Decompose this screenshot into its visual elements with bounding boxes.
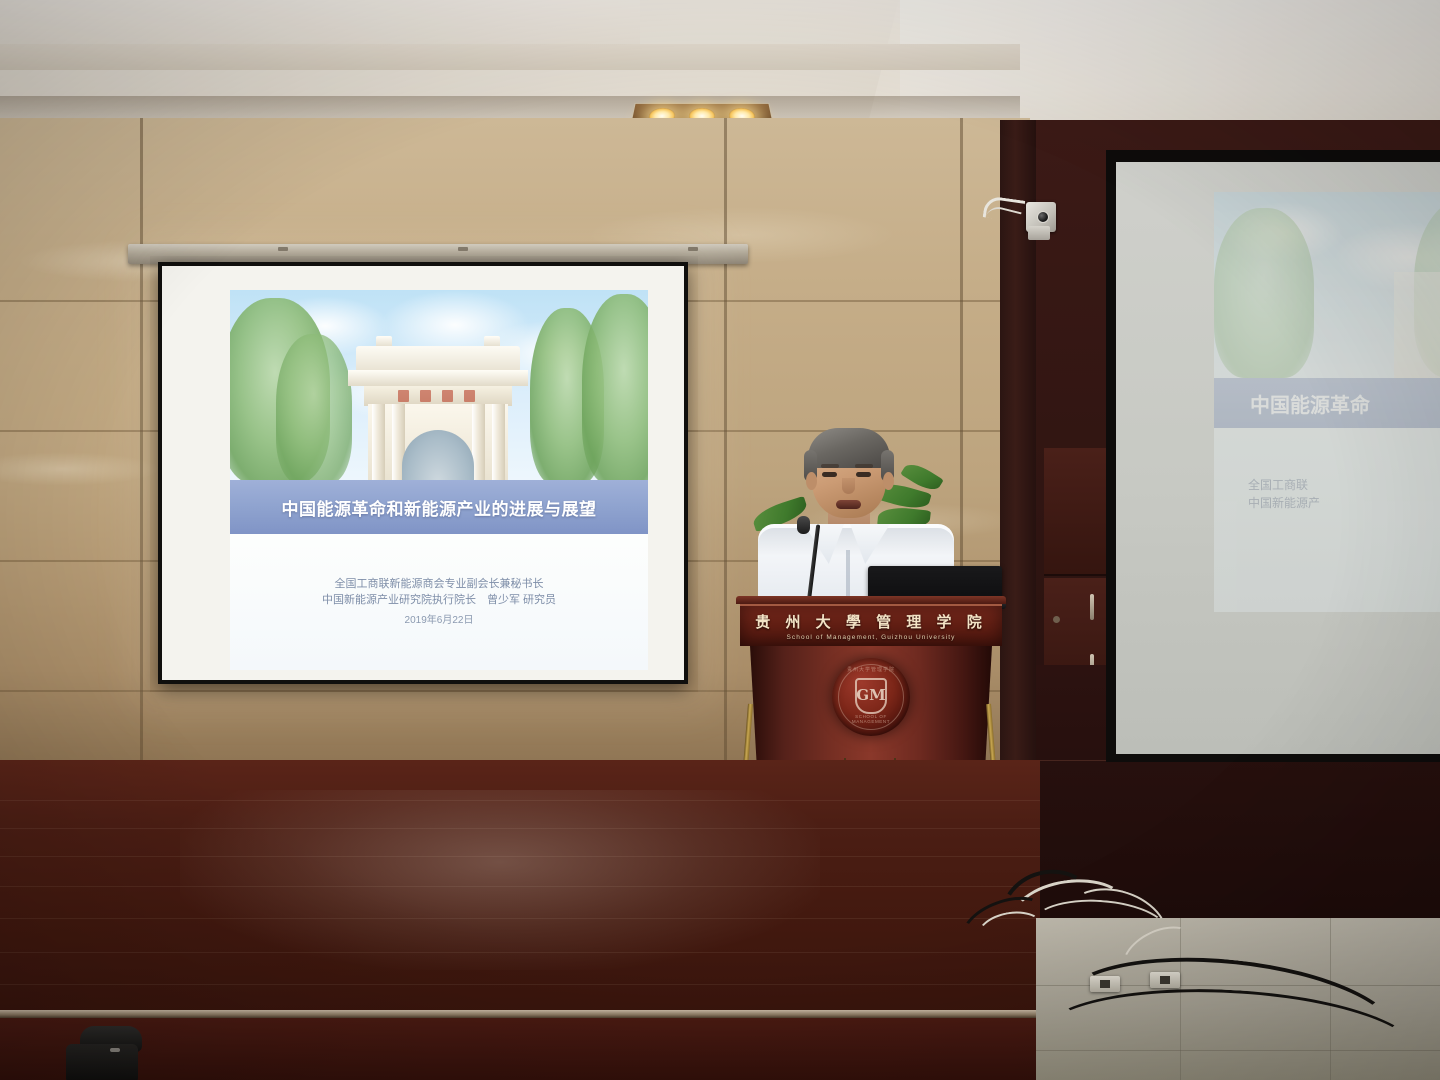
campus-gate-archway [348,334,528,484]
roller-bracket [278,247,288,251]
hair [808,428,890,468]
floor-light-reflection [180,790,820,970]
video-camera-rig [62,1022,154,1080]
slide-body-secondary: 全国工商联 中国新能源产 [1214,428,1440,612]
nose [842,478,855,494]
gate-inscription-char [420,390,431,402]
eyebrow [821,464,839,468]
emblem-text-bottom: SCHOOL OF MANAGEMENT [840,714,902,726]
slide-title-band: 中国能源革命和新能源产业的进展与展望 [230,480,648,534]
emblem-monogram: GM [856,682,886,708]
presentation-scene: 中国能源革命和新能源产业的进展与展望 全国工商联新能源商会专业副会长兼秘书长 中… [0,0,1440,1080]
slide-body: 全国工商联新能源商会专业副会长兼秘书长 中国新能源产业研究院执行院长 曾少军 研… [230,534,648,670]
slide-subtitle-line-2: 中国新能源产业研究院执行院长 曾少军 研究员 [322,592,556,608]
slide-title-secondary: 中国能源革命 [1250,389,1370,418]
gate-column [492,404,505,484]
gate-inscription-char [442,390,453,402]
cabinet-handle[interactable] [1090,594,1094,620]
floor-grain-line [0,886,1040,887]
microphone-icon [797,516,810,534]
podium-name-english: School of Management, Guizhou University [786,634,955,641]
slide-subtitle-secondary-1: 全国工商联 [1248,476,1440,494]
floor-grain-line [0,984,1040,985]
slide-subtitle-secondary-2: 中国新能源产 [1248,494,1440,512]
projection-screen-surface: 中国能源革命和新能源产业的进展与展望 全国工商联新能源商会专业副会长兼秘书长 中… [162,266,684,680]
wall-joint [140,118,143,768]
slide-photo-campus-gate-secondary [1214,192,1440,378]
eye [822,472,837,477]
podium-top-surface [736,596,1006,604]
slide-date: 2019年6月22日 [405,611,474,626]
gate-inscription-char [398,390,409,402]
camera-rig-body [66,1044,138,1080]
school-emblem-icon: 贵州大学管理学院 GM SCHOOL OF MANAGEMENT [832,658,910,736]
power-outlet-slot [1100,980,1110,988]
floor-grain-line [0,952,1040,953]
projection-screen-secondary-surface: 中国能源革命 全国工商联 中国新能源产 [1116,162,1440,754]
gate-inscription-char [464,390,475,402]
slide-title: 中国能源革命和新能源产业的进展与展望 [282,495,597,520]
camera-lens-icon [1037,211,1049,223]
floor-grain-line [0,856,1040,857]
tree [276,334,352,484]
roller-bracket [688,247,698,251]
cabinet-knob[interactable] [1053,616,1060,623]
podium-nameplate: 贵 州 大 學 管 理 学 院 School of Management, Gu… [740,604,1002,646]
stage-edge-nosing [0,1010,1040,1018]
projection-screen-roller [128,244,748,264]
eyebrow [855,464,873,468]
stage-front-face [0,1018,1040,1080]
gate-inscription-band [364,386,512,406]
camera-rig-highlight [110,1048,120,1052]
tree [582,294,648,484]
gate-cornice [348,370,528,386]
security-camera-icon [1018,196,1058,242]
ceiling-beam [0,44,1020,70]
slide-photo-campus-gate [230,290,648,484]
projection-screen-secondary: 中国能源革命 全国工商联 中国新能源产 [1106,150,1440,762]
power-strip[interactable] [1150,972,1180,988]
slide-title-band-secondary: 中国能源革命 [1214,378,1440,428]
gate-body [1394,272,1440,378]
wall-joint [724,118,727,768]
slide-subtitle-line-1: 全国工商联新能源商会专业副会长兼秘书长 [335,576,544,592]
presentation-slide-secondary: 中国能源革命 全国工商联 中国新能源产 [1214,192,1440,612]
projection-screen-main: 中国能源革命和新能源产业的进展与展望 全国工商联新能源商会专业副会长兼秘书长 中… [158,262,688,684]
ear [806,472,817,490]
gate-pediment [356,346,520,372]
camera-mount-base [1028,226,1050,240]
podium-name-chinese: 贵 州 大 學 管 理 学 院 [755,611,987,632]
ear [883,472,894,490]
tree [1214,208,1314,378]
floor-grain-line [0,918,1040,919]
gate-column [372,404,385,484]
floor-grain-line [0,828,1040,829]
mouth [836,500,861,509]
floor-grain-line [0,800,1040,801]
power-outlet-slot [1160,976,1170,984]
power-strip[interactable] [1090,976,1120,992]
presentation-slide: 中国能源革命和新能源产业的进展与展望 全国工商联新能源商会专业副会长兼秘书长 中… [230,290,648,670]
roller-bracket [458,247,468,251]
eye [856,472,871,477]
